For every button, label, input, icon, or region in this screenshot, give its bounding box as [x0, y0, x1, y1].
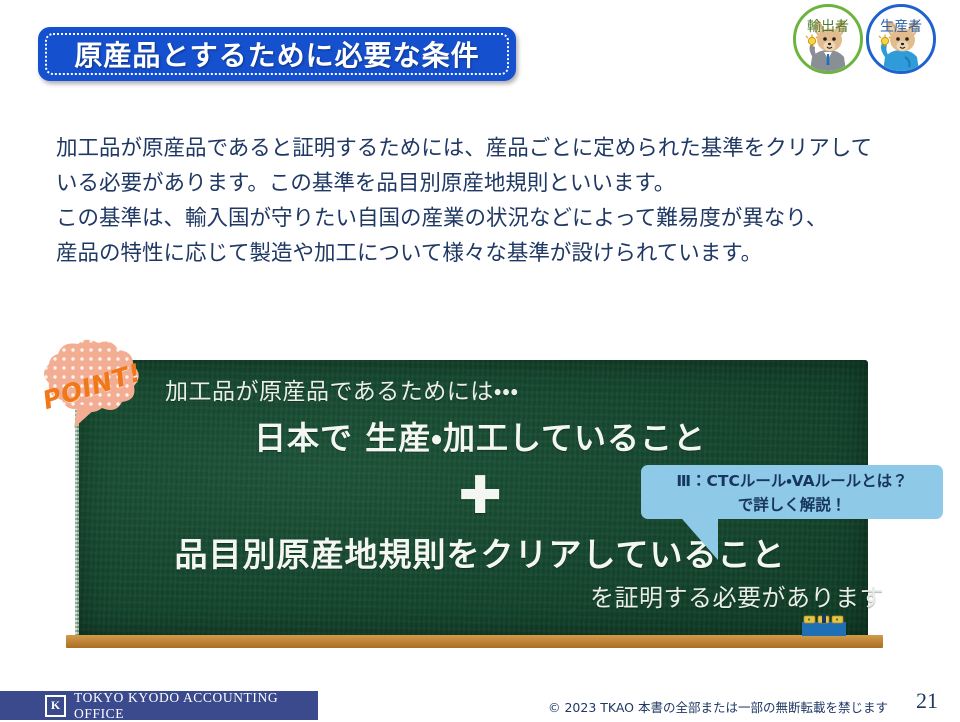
avatar-producer-label: 生産者 — [869, 16, 933, 36]
blackboard-line-2: 日本で 生産・加工していること — [0, 413, 960, 459]
tkao-logo-icon: K — [45, 695, 66, 717]
page-number: 21 — [916, 688, 938, 714]
footer-logo-text: TOKYO KYODO ACCOUNTING OFFICE — [74, 690, 318, 722]
chalk-box-icon — [800, 613, 848, 636]
copyright-notice: © 2023 TKAO 本書の全部または一部の無断転載を禁じます — [548, 697, 888, 716]
avatar-producer: 生産者 — [866, 4, 936, 74]
avatar-exporter: 輸出者 — [793, 4, 863, 74]
blackboard-line-1: 加工品が原産品であるためには・・・ — [165, 372, 519, 406]
page-title: 原産品とするために必要な条件 — [38, 34, 516, 74]
slide-title-banner: 原産品とするために必要な条件 — [38, 27, 516, 81]
callout-bubble[interactable]: Ⅲ：CTCルール・VAルールとは？ で詳しく解説！ — [641, 465, 943, 519]
callout-line-2: で詳しく解説！ — [649, 493, 935, 517]
body-paragraph: 加工品が原産品であると証明するためには、産品ごとに定められた基準をクリアして い… — [56, 131, 916, 271]
blackboard-line-3: 品目別原産地規則をクリアしていること — [0, 528, 960, 576]
blackboard-ledge — [66, 635, 883, 648]
footer-logo-bar: K TOKYO KYODO ACCOUNTING OFFICE — [0, 691, 318, 720]
avatar-exporter-label: 輸出者 — [796, 16, 860, 36]
callout-tail — [662, 512, 718, 560]
callout-line-1: Ⅲ：CTCルール・VAルールとは？ — [649, 469, 935, 493]
blackboard-line-4: を証明する必要があります — [0, 578, 884, 613]
